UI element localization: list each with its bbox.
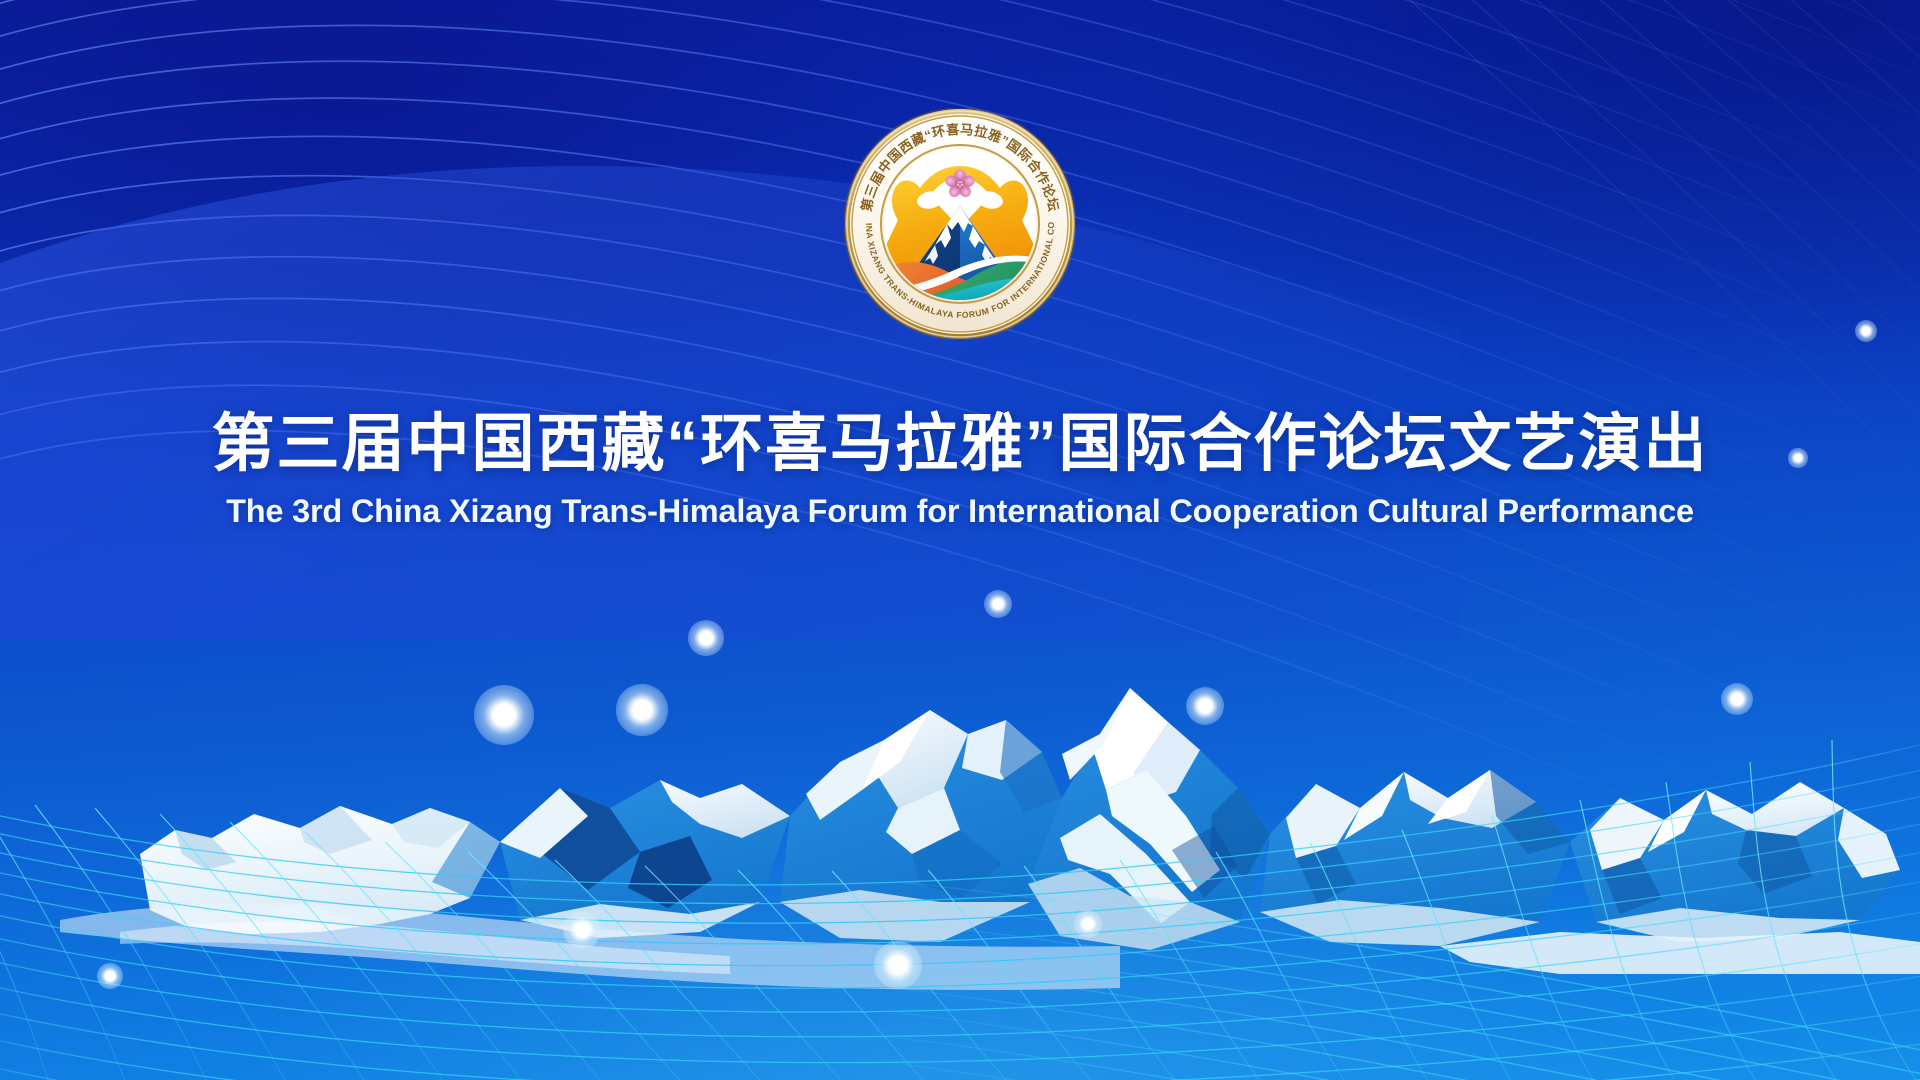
ribbon-sweep — [0, 0, 1460, 640]
glow-particle — [874, 941, 922, 989]
wireframe-mesh-ground — [0, 690, 1920, 1080]
glow-particle — [563, 911, 601, 949]
page-title-chinese: 第三届中国西藏“环喜马拉雅”国际合作论坛文艺演出 — [0, 408, 1920, 481]
forum-emblem: 第三届中国西藏“环喜马拉雅”国际合作论坛 THE 3RD CHINA XIZAN… — [844, 108, 1076, 340]
mountain-center-summit — [1028, 688, 1270, 950]
glow-particle — [97, 963, 123, 989]
wireframe-mesh-right-fan — [900, 760, 1920, 1080]
mountain-far-right-ridge — [1440, 782, 1920, 974]
glow-particle — [1855, 320, 1877, 342]
glow-particle — [1186, 687, 1224, 725]
page-title-english: The 3rd China Xizang Trans-Himalaya Foru… — [0, 493, 1920, 530]
mountain-left-ridge — [140, 806, 500, 934]
title-block: 第三届中国西藏“环喜马拉雅”国际合作论坛文艺演出 The 3rd China X… — [0, 408, 1920, 530]
glow-particle — [984, 590, 1013, 619]
glow-particle — [1788, 448, 1807, 467]
foreground-glacier — [60, 903, 1120, 990]
glow-particle — [1721, 683, 1753, 715]
glow-particle — [474, 685, 535, 746]
glow-particle — [616, 684, 667, 735]
presentation-backdrop: 第三届中国西藏“环喜马拉雅”国际合作论坛 THE 3RD CHINA XIZAN… — [0, 0, 1920, 1080]
glow-particle — [688, 620, 723, 655]
mountain-center-left-peak — [780, 710, 1062, 942]
mountain-range-illustration — [0, 602, 1920, 1022]
glow-particle — [1074, 910, 1103, 939]
mountain-left-dark-peak — [500, 780, 790, 938]
mountain-right-massif — [1260, 770, 1570, 946]
